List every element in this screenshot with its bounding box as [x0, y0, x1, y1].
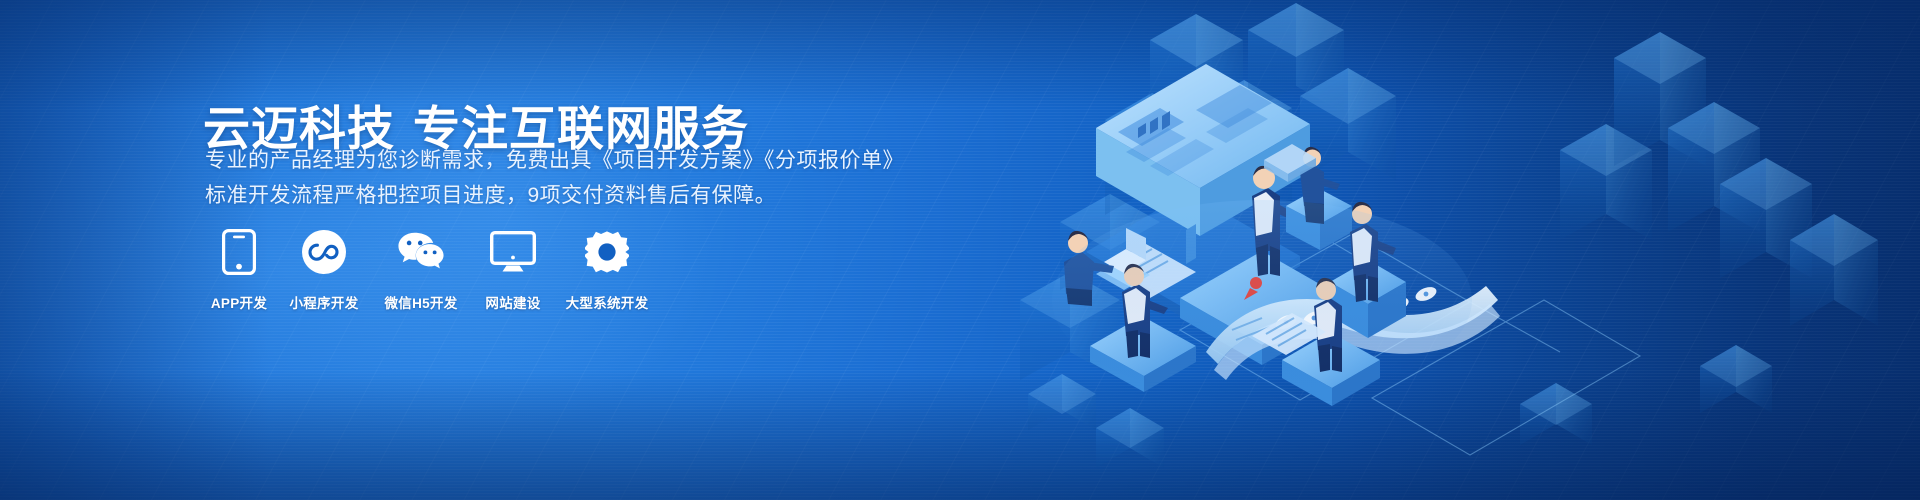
service-item-app[interactable]: APP开发 — [203, 228, 275, 312]
hero-banner: 云迈科技专注互联网服务 专业的产品经理为您诊断需求，免费出具《项目开发方案》《分… — [0, 0, 1920, 500]
gear-icon — [583, 228, 631, 276]
monitor-icon — [489, 228, 537, 276]
banner-content: 云迈科技专注互联网服务 专业的产品经理为您诊断需求，免费出具《项目开发方案》《分… — [203, 0, 1103, 500]
service-label-wechat-h5: 微信H5开发 — [384, 292, 457, 312]
subtitle-line-1: 专业的产品经理为您诊断需求，免费出具《项目开发方案》《分项报价单》 — [205, 143, 905, 178]
service-item-mini-program[interactable]: 小程序开发 — [276, 228, 372, 312]
mobile-phone-icon — [215, 228, 263, 276]
service-label-mini-program: 小程序开发 — [290, 292, 359, 312]
service-item-wechat-h5[interactable]: 微信H5开发 — [373, 228, 469, 312]
service-list: APP开发 小程序开发 — [203, 228, 658, 312]
service-label-large-system: 大型系统开发 — [566, 292, 649, 312]
service-label-website: 网站建设 — [485, 292, 540, 312]
page-subtitle: 专业的产品经理为您诊断需求，免费出具《项目开发方案》《分项报价单》 标准开发流程… — [205, 143, 905, 213]
service-item-large-system[interactable]: 大型系统开发 — [557, 228, 657, 312]
service-label-app: APP开发 — [211, 292, 267, 312]
subtitle-line-2: 标准开发流程严格把控项目进度，9项交付资料售后有保障。 — [205, 178, 905, 213]
mini-program-icon — [300, 228, 348, 276]
service-item-website[interactable]: 网站建设 — [470, 228, 556, 312]
wechat-icon — [397, 228, 445, 276]
